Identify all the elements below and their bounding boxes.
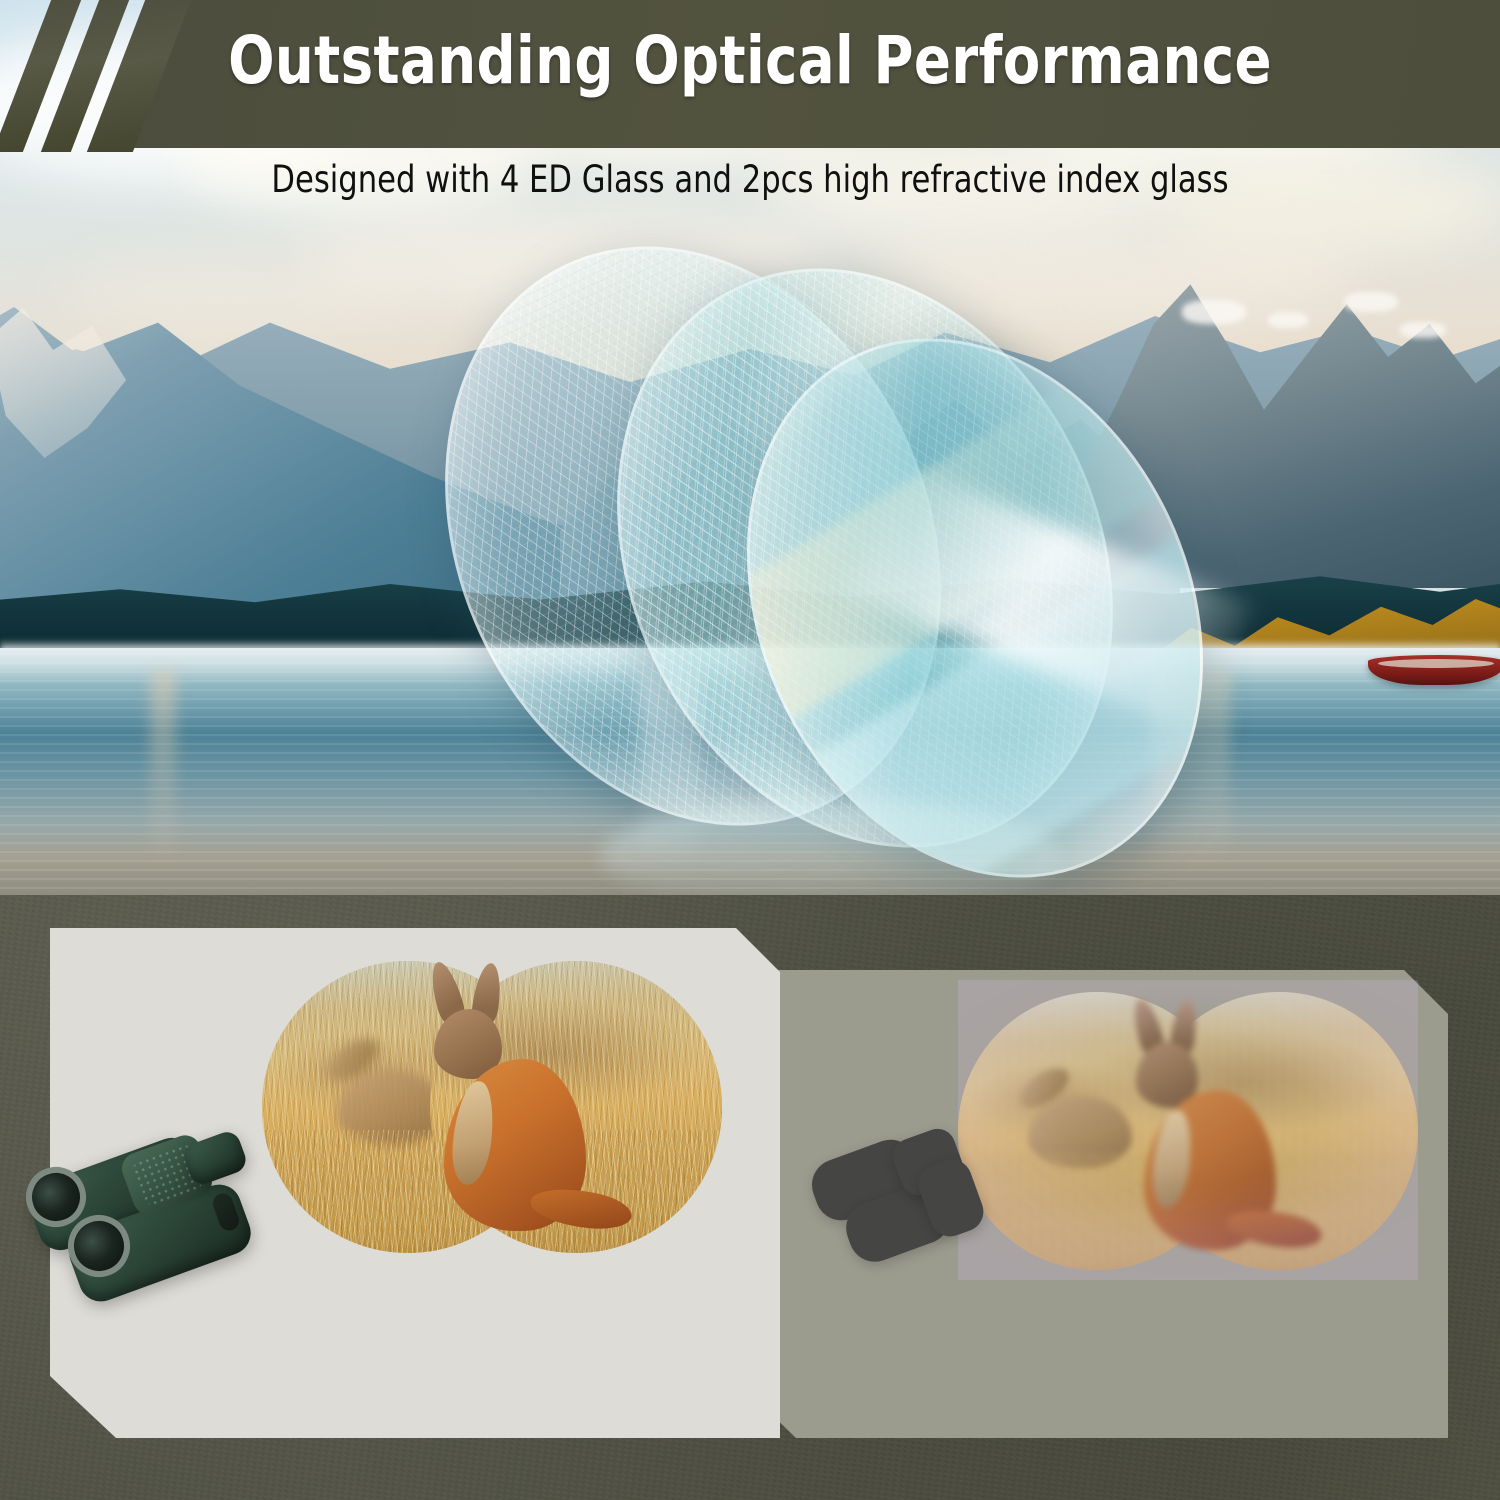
page-title: Outstanding Optical Performance bbox=[60, 22, 1440, 99]
snow-patch bbox=[1400, 322, 1446, 338]
kangaroo-subject-blurred bbox=[1106, 998, 1306, 1260]
binoculars-silhouette-icon bbox=[812, 1127, 1012, 1277]
snow-patch bbox=[1182, 300, 1246, 324]
lens-stack bbox=[430, 228, 1190, 895]
snow-patch bbox=[1344, 292, 1398, 312]
binocular-view-sharp bbox=[262, 947, 722, 1259]
water-reflection bbox=[150, 670, 176, 870]
kangaroo-subject-sharp bbox=[404, 961, 616, 1243]
snow-patch bbox=[1268, 312, 1308, 328]
canoe-interior bbox=[1378, 659, 1494, 668]
hero-scene: Outstanding Optical Performance Designed… bbox=[0, 0, 1500, 895]
binoculars-icon bbox=[24, 1135, 274, 1295]
binocular-view-blurred bbox=[958, 980, 1418, 1280]
page-subtitle: Designed with 4 ED Glass and 2pcs high r… bbox=[60, 158, 1440, 201]
comparison-section: Sportich ED Lens CLEARER AND SHARPER ima… bbox=[0, 895, 1500, 1500]
product-infographic: Outstanding Optical Performance Designed… bbox=[0, 0, 1500, 1500]
